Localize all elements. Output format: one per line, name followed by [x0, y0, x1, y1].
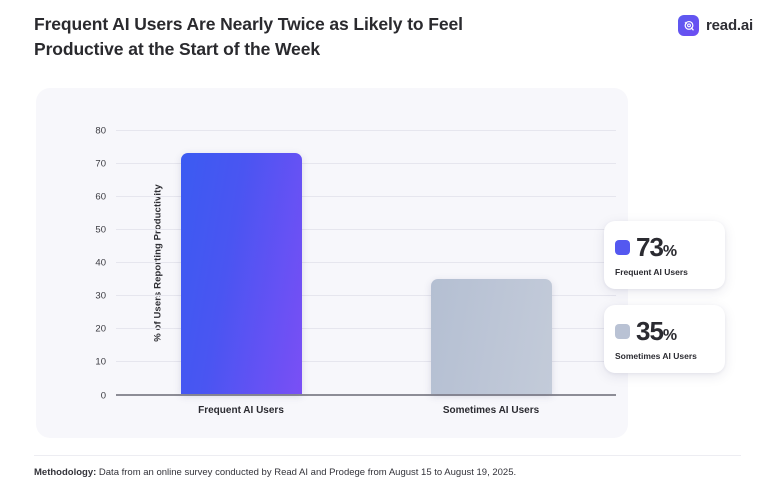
bar[interactable]: [431, 279, 552, 395]
plot-area: 80706050403020100 Frequent AI UsersSomet…: [116, 130, 616, 394]
bar-group: Frequent AI UsersSometimes AI Users: [116, 130, 616, 394]
x-axis-label: Sometimes AI Users: [443, 405, 539, 416]
bar[interactable]: [181, 153, 302, 394]
stat-unit: %: [663, 327, 677, 344]
stat-unit: %: [663, 243, 677, 260]
stat-label: Frequent AI Users: [615, 267, 714, 277]
y-tick-label: 10: [95, 357, 106, 368]
stat-card: 73%Frequent AI Users: [604, 221, 725, 289]
y-tick-label: 60: [95, 192, 106, 203]
brand-name: read.ai: [706, 17, 753, 34]
methodology-note: Methodology: Data from an online survey …: [34, 466, 755, 479]
plot-wrapper: % of Users Reporting Productivity 807060…: [36, 88, 628, 438]
bar-slot: Frequent AI Users: [116, 130, 366, 394]
y-tick-label: 50: [95, 225, 106, 236]
y-tick-label: 40: [95, 258, 106, 269]
methodology-text: Data from an online survey conducted by …: [96, 467, 516, 478]
x-axis-label: Frequent AI Users: [198, 405, 284, 416]
stat-card-header: 73%: [615, 234, 714, 260]
y-tick-label: 0: [101, 391, 106, 402]
gridline: 0: [116, 394, 616, 396]
stat-card: 35%Sometimes AI Users: [604, 305, 725, 373]
read-ai-logo-icon: [678, 15, 699, 36]
stat-value: 35%: [636, 318, 677, 344]
methodology-label: Methodology:: [34, 467, 96, 478]
y-tick-label: 80: [95, 126, 106, 137]
brand-logo: read.ai: [678, 15, 753, 36]
bar-slot: Sometimes AI Users: [366, 130, 616, 394]
header: Frequent AI Users Are Nearly Twice as Li…: [34, 12, 753, 72]
page-title: Frequent AI Users Are Nearly Twice as Li…: [34, 12, 463, 62]
y-tick-label: 30: [95, 291, 106, 302]
stat-card-list: 73%Frequent AI Users35%Sometimes AI User…: [604, 221, 725, 389]
footer-divider: [34, 455, 741, 456]
legend-swatch-icon: [615, 324, 630, 339]
y-tick-label: 20: [95, 324, 106, 335]
y-tick-label: 70: [95, 159, 106, 170]
stat-label: Sometimes AI Users: [615, 351, 714, 361]
chart-panel: % of Users Reporting Productivity 807060…: [36, 88, 628, 438]
stat-card-header: 35%: [615, 318, 714, 344]
legend-swatch-icon: [615, 240, 630, 255]
stat-value: 73%: [636, 234, 677, 260]
